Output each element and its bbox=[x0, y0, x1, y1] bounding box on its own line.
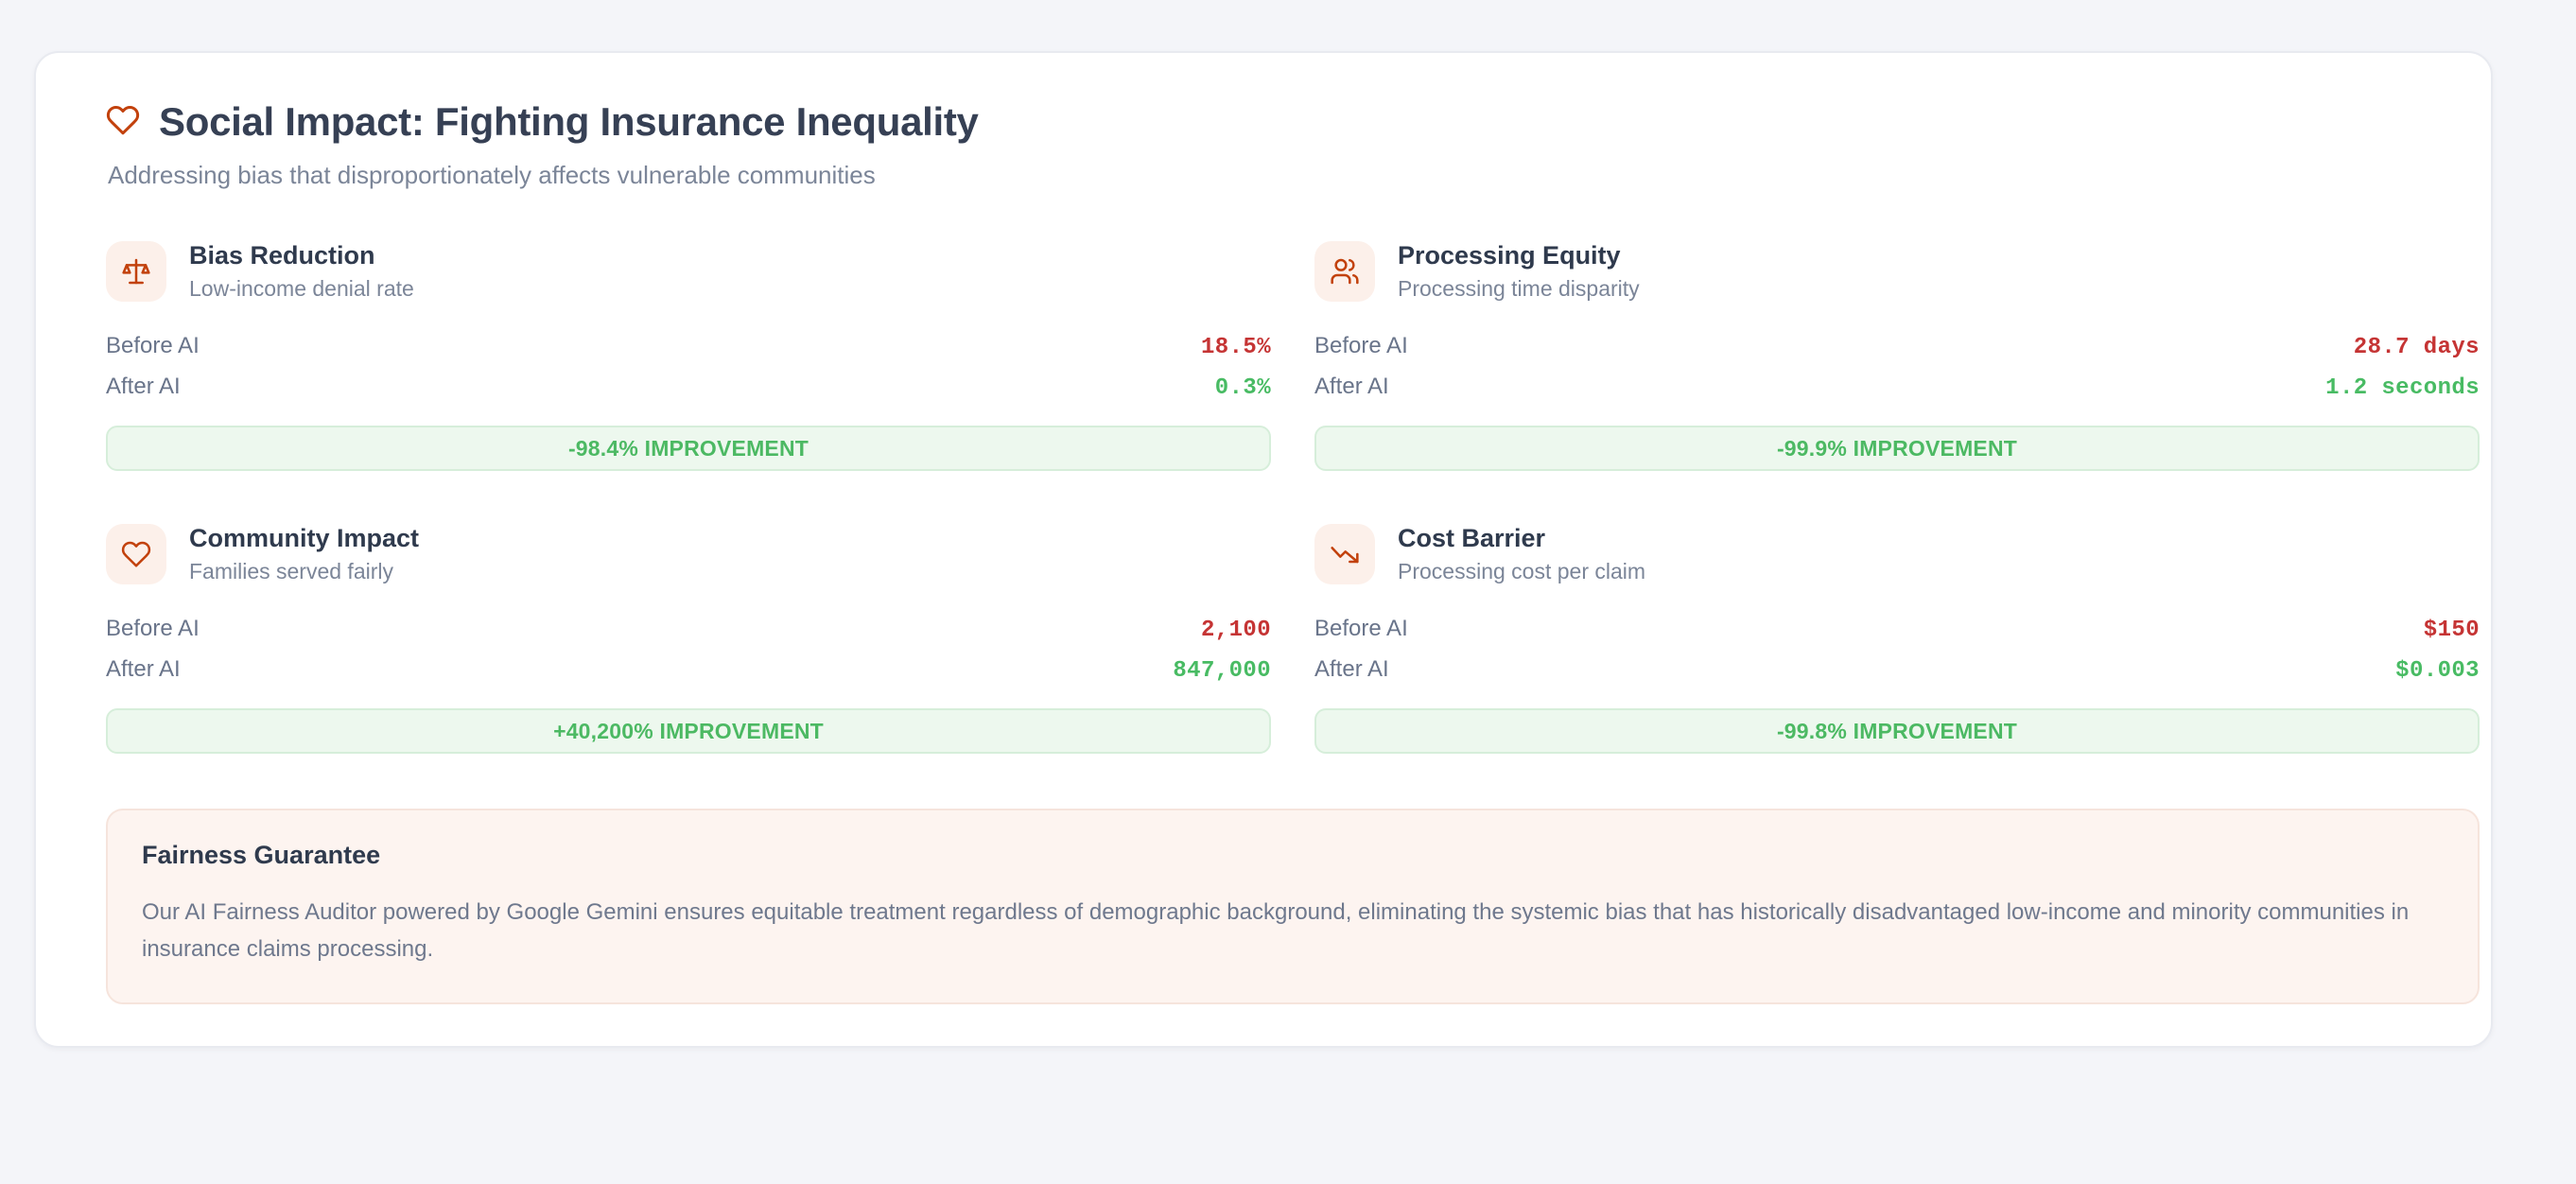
metric-header: Bias Reduction Low-income denial rate bbox=[106, 241, 1271, 302]
before-value: 28.7 days bbox=[2354, 335, 2480, 360]
metrics-grid: Bias Reduction Low-income denial rate Be… bbox=[106, 241, 2480, 754]
metric-header: Cost Barrier Processing cost per claim bbox=[1314, 524, 2480, 584]
users-icon bbox=[1314, 241, 1375, 302]
metric-row-after: After AI 847,000 bbox=[106, 650, 1271, 690]
metric-header: Processing Equity Processing time dispar… bbox=[1314, 241, 2480, 302]
after-value: 1.2 seconds bbox=[2325, 375, 2480, 401]
metric-sublabel: Families served fairly bbox=[189, 559, 419, 583]
guarantee-title: Fairness Guarantee bbox=[142, 841, 2444, 870]
before-label: Before AI bbox=[106, 616, 200, 642]
improvement-badge: -99.8% IMPROVEMENT bbox=[1314, 708, 2480, 754]
metric-header: Community Impact Families served fairly bbox=[106, 524, 1271, 584]
metric-titles: Processing Equity Processing time dispar… bbox=[1398, 241, 1640, 301]
improvement-text: -99.8% IMPROVEMENT bbox=[1777, 719, 2017, 744]
metric-titles: Bias Reduction Low-income denial rate bbox=[189, 241, 414, 301]
after-label: After AI bbox=[1314, 374, 1389, 400]
metric-sublabel: Processing time disparity bbox=[1398, 276, 1640, 301]
guarantee-body: Our AI Fairness Auditor powered by Googl… bbox=[142, 895, 2440, 968]
improvement-text: -98.4% IMPROVEMENT bbox=[568, 436, 809, 461]
metric-row-after: After AI 0.3% bbox=[106, 367, 1271, 408]
page-root: Social Impact: Fighting Insurance Inequa… bbox=[0, 0, 2576, 1184]
metric-label: Bias Reduction bbox=[189, 241, 414, 270]
page-subtitle: Addressing bias that disproportionately … bbox=[108, 161, 2453, 190]
page-title: Social Impact: Fighting Insurance Inequa… bbox=[159, 100, 979, 144]
after-value: 0.3% bbox=[1215, 375, 1271, 401]
before-value: 18.5% bbox=[1201, 335, 1271, 360]
before-value: 2,100 bbox=[1201, 618, 1271, 643]
metric-row-after: After AI $0.003 bbox=[1314, 650, 2480, 690]
before-label: Before AI bbox=[1314, 616, 1408, 642]
metric-titles: Cost Barrier Processing cost per claim bbox=[1398, 524, 1645, 583]
after-label: After AI bbox=[106, 374, 181, 400]
after-value: 847,000 bbox=[1173, 658, 1271, 684]
metric-label: Cost Barrier bbox=[1398, 524, 1645, 553]
improvement-badge: +40,200% IMPROVEMENT bbox=[106, 708, 1271, 754]
metric-row-before: Before AI 2,100 bbox=[106, 609, 1271, 650]
social-impact-panel: Social Impact: Fighting Insurance Inequa… bbox=[34, 51, 2493, 1048]
title-row: Social Impact: Fighting Insurance Inequa… bbox=[106, 100, 2453, 144]
metric-titles: Community Impact Families served fairly bbox=[189, 524, 419, 583]
before-label: Before AI bbox=[1314, 333, 1408, 359]
heart-icon bbox=[106, 524, 166, 584]
panel-header: Social Impact: Fighting Insurance Inequa… bbox=[106, 100, 2453, 190]
before-value: $150 bbox=[2424, 618, 2480, 643]
before-label: Before AI bbox=[106, 333, 200, 359]
after-value: $0.003 bbox=[2395, 658, 2480, 684]
improvement-text: +40,200% IMPROVEMENT bbox=[553, 719, 824, 744]
after-label: After AI bbox=[1314, 656, 1389, 683]
fairness-guarantee-box: Fairness Guarantee Our AI Fairness Audit… bbox=[106, 809, 2480, 1004]
metric-card-bias-reduction: Bias Reduction Low-income denial rate Be… bbox=[106, 241, 1271, 471]
improvement-badge: -99.9% IMPROVEMENT bbox=[1314, 426, 2480, 471]
improvement-text: -99.9% IMPROVEMENT bbox=[1777, 436, 2017, 461]
heart-icon bbox=[106, 103, 140, 142]
metric-sublabel: Low-income denial rate bbox=[189, 276, 414, 301]
metric-card-community-impact: Community Impact Families served fairly … bbox=[106, 524, 1271, 754]
improvement-badge: -98.4% IMPROVEMENT bbox=[106, 426, 1271, 471]
trending-down-icon bbox=[1314, 524, 1375, 584]
metric-row-before: Before AI 28.7 days bbox=[1314, 326, 2480, 367]
metric-card-cost-barrier: Cost Barrier Processing cost per claim B… bbox=[1314, 524, 2480, 754]
metric-card-processing-equity: Processing Equity Processing time dispar… bbox=[1314, 241, 2480, 471]
metric-label: Processing Equity bbox=[1398, 241, 1640, 270]
metric-label: Community Impact bbox=[189, 524, 419, 553]
scales-balance-icon bbox=[106, 241, 166, 302]
metric-row-after: After AI 1.2 seconds bbox=[1314, 367, 2480, 408]
metric-sublabel: Processing cost per claim bbox=[1398, 559, 1645, 583]
after-label: After AI bbox=[106, 656, 181, 683]
metric-row-before: Before AI 18.5% bbox=[106, 326, 1271, 367]
metric-row-before: Before AI $150 bbox=[1314, 609, 2480, 650]
